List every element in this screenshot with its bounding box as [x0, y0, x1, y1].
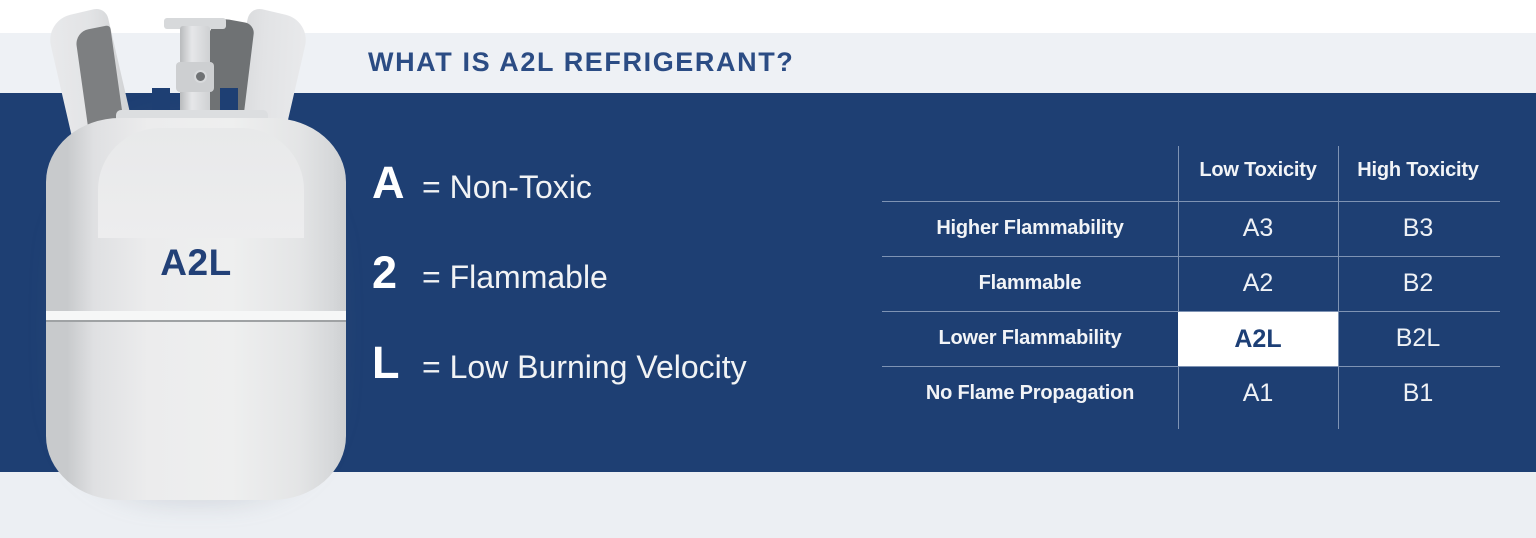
- cylinder-label: A2L: [46, 242, 346, 284]
- table-row: Higher Flammability A3 B3: [882, 201, 1500, 256]
- matrix-horizontal-rule: [882, 366, 1500, 367]
- legend-item-a: A = Non-Toxic: [372, 158, 852, 248]
- legend-key-l: L: [372, 338, 422, 388]
- infographic-canvas: WHAT IS A2L REFRIGERANT? A2L A = Non-Tox…: [0, 0, 1536, 538]
- matrix-cell-b3: B3: [1338, 214, 1498, 243]
- page-title: WHAT IS A2L REFRIGERANT?: [368, 45, 794, 79]
- matrix-cell-a2: A2: [1178, 269, 1338, 298]
- matrix-column-header-low-toxicity: Low Toxicity: [1178, 159, 1338, 182]
- legend-key-2: 2: [372, 248, 422, 298]
- valve-knob-icon: [194, 70, 207, 83]
- table-row: Flammable A2 B2: [882, 256, 1500, 311]
- matrix-header-row: Low Toxicity High Toxicity: [882, 140, 1500, 201]
- legend-key-a: A: [372, 158, 422, 208]
- refrigerant-cylinder-icon: A2L: [28, 0, 358, 520]
- legend-item-l: L = Low Burning Velocity: [372, 338, 852, 428]
- matrix-row-label-lower-flammability: Lower Flammability: [882, 327, 1178, 350]
- legend-definition-a: = Non-Toxic: [422, 162, 592, 212]
- matrix-cell-b1: B1: [1338, 379, 1498, 408]
- legend-item-2: 2 = Flammable: [372, 248, 852, 338]
- matrix-row-label-no-flame-propagation: No Flame Propagation: [882, 382, 1178, 405]
- classification-matrix: Low Toxicity High Toxicity Higher Flamma…: [882, 140, 1500, 425]
- matrix-row-label-flammable: Flammable: [882, 272, 1178, 295]
- legend-definition-2: = Flammable: [422, 252, 608, 302]
- matrix-cell-b2l: B2L: [1338, 324, 1498, 353]
- table-row: No Flame Propagation A1 B1: [882, 366, 1500, 421]
- table-row: Lower Flammability A2L B2L: [882, 311, 1500, 366]
- cylinder-tank-highlight: [98, 128, 304, 238]
- matrix-cell-b2: B2: [1338, 269, 1498, 298]
- matrix-horizontal-rule: [882, 201, 1500, 202]
- matrix-horizontal-rule: [882, 311, 1500, 312]
- matrix-cell-a2l-highlighted: A2L: [1178, 312, 1338, 366]
- matrix-column-header-high-toxicity: High Toxicity: [1338, 159, 1498, 182]
- matrix-row-label-higher-flammability: Higher Flammability: [882, 217, 1178, 240]
- cylinder-mid-band: [46, 311, 346, 322]
- matrix-cell-a3: A3: [1178, 214, 1338, 243]
- matrix-horizontal-rule: [882, 256, 1500, 257]
- legend-definition-l: = Low Burning Velocity: [422, 342, 747, 392]
- matrix-cell-a1: A1: [1178, 379, 1338, 408]
- legend-list: A = Non-Toxic 2 = Flammable L = Low Burn…: [372, 158, 852, 428]
